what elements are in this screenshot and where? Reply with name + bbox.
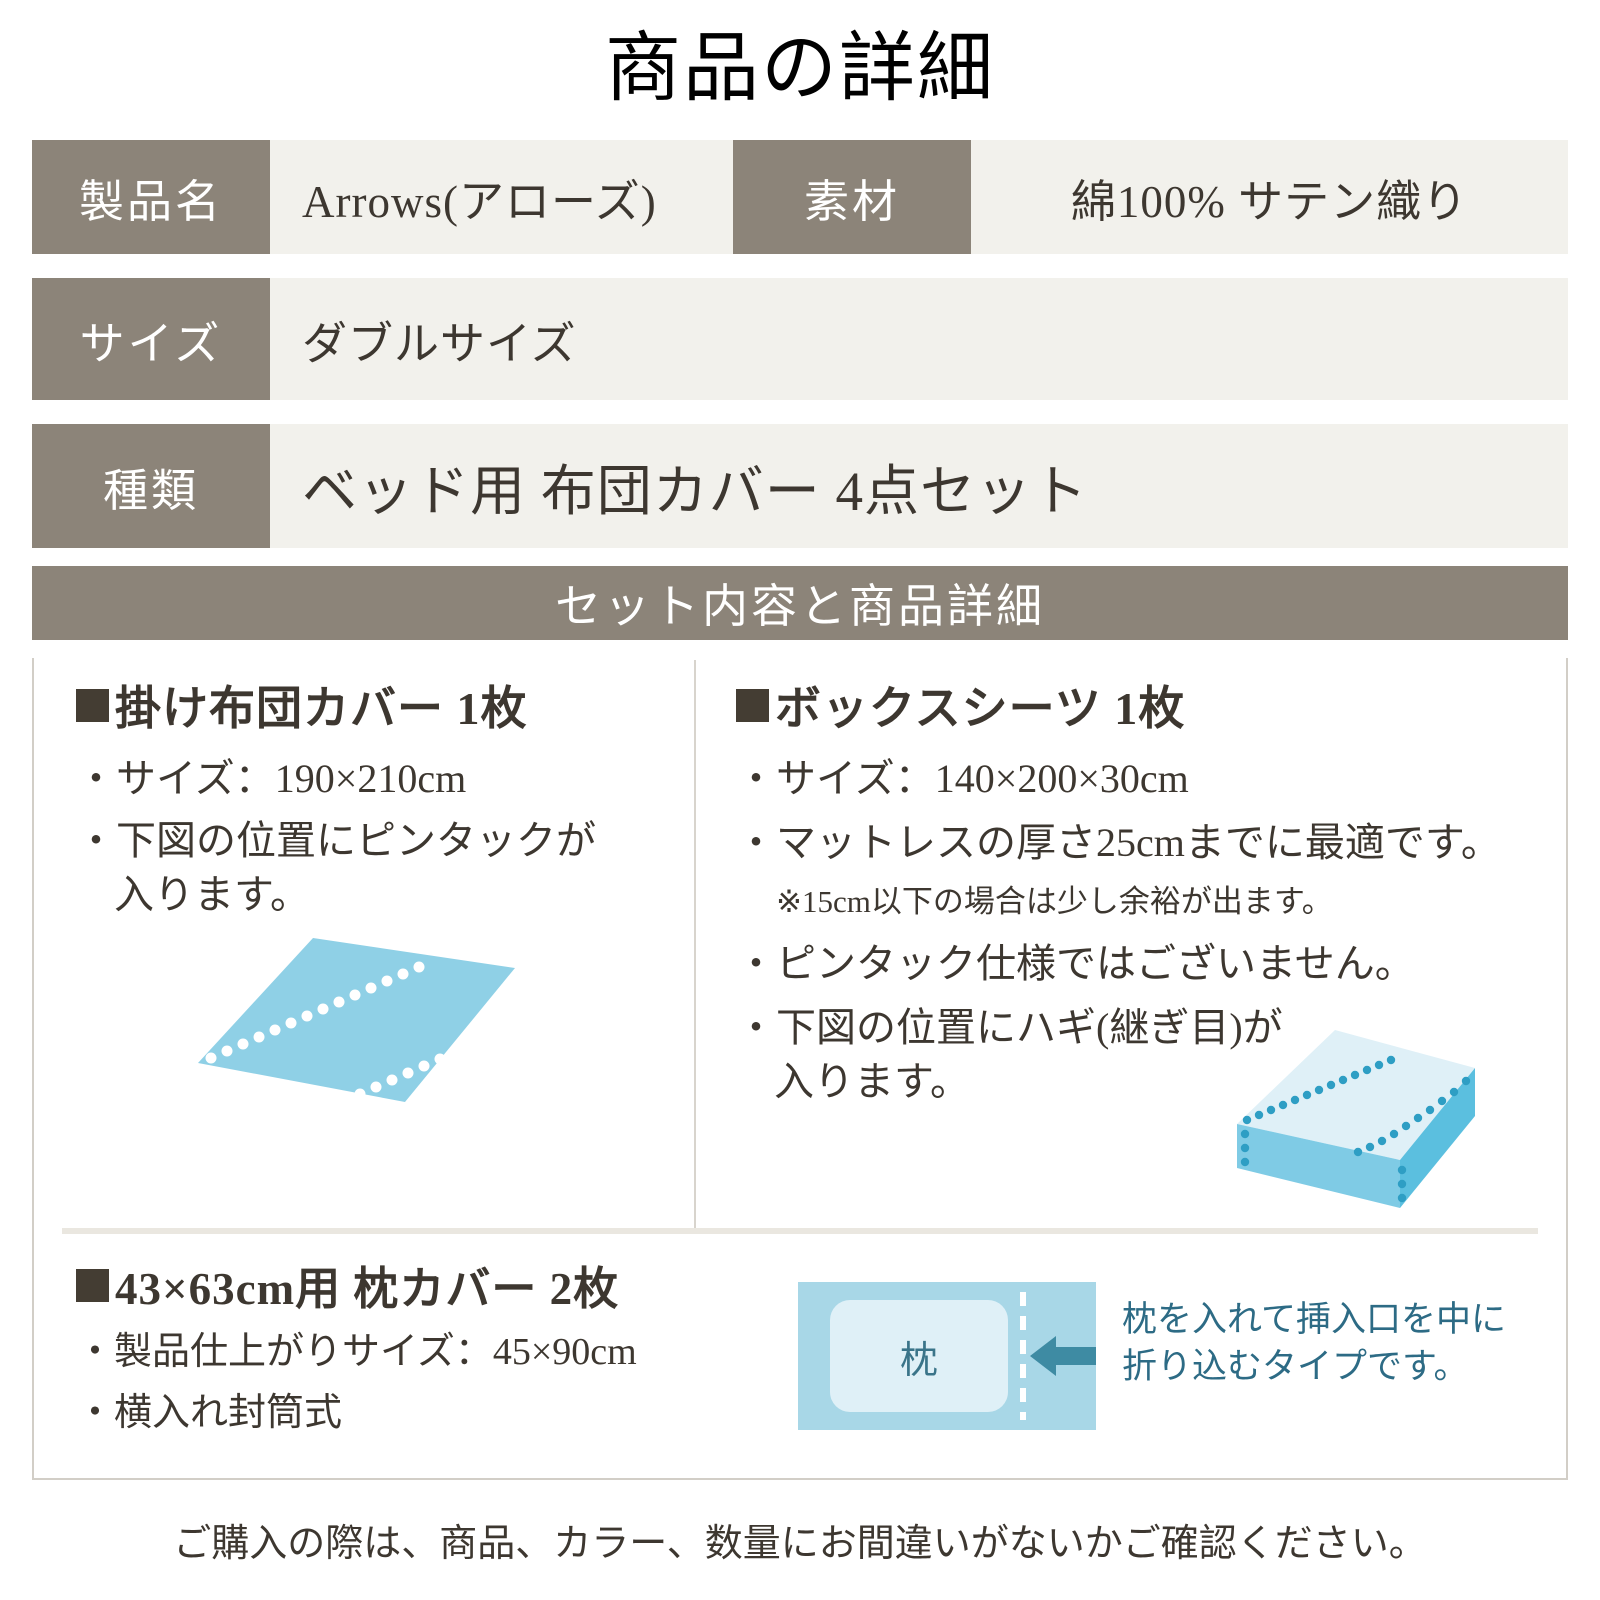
list-item: ・横入れ封筒式 — [76, 1388, 716, 1439]
left-arrow-icon — [1030, 1334, 1096, 1378]
pillow-case-diagram: 枕 — [798, 1282, 1096, 1430]
list-item-text: ・下図の位置にハギ(継ぎ目)が — [736, 1005, 1283, 1050]
item-heading-box-sheet-label: ボックスシーツ 1枚 — [775, 672, 1185, 738]
spec-label-type: 種類 — [32, 424, 270, 548]
pillow-annotation-line2: 折り込むタイプです。 — [1122, 1343, 1522, 1390]
spec-label-material: 素材 — [733, 140, 971, 254]
item-duvet-cover: 掛け布団カバー 1枚 ・サイズ：190×210cm ・下図の位置にピンタックが … — [76, 672, 676, 930]
item-duvet-bullets: ・サイズ：190×210cm ・下図の位置にピンタックが 入ります。 — [76, 752, 676, 922]
column-divider — [694, 660, 696, 1230]
spec-value-size: ダブルサイズ — [270, 278, 1568, 400]
item-heading-duvet-label: 掛け布団カバー 1枚 — [115, 672, 528, 738]
section-header-set-contents: セット内容と商品詳細 — [32, 566, 1568, 640]
list-item: ・サイズ：140×200×30cm — [736, 752, 1526, 806]
box-sheet-diagram — [1225, 1020, 1515, 1210]
table-row: 種類 ベッド用 布団カバー 4点セット — [32, 424, 1568, 548]
item-heading-pillow: 43×63cm用 枕カバー 2枚 — [76, 1252, 716, 1317]
fold-line-dashed — [1020, 1292, 1026, 1420]
square-bullet-icon — [736, 689, 769, 722]
table-row: 製品名 Arrows(アローズ) 素材 綿100% サテン織り — [32, 140, 1568, 254]
square-bullet-icon — [76, 1269, 109, 1302]
table-row: サイズ ダブルサイズ — [32, 278, 1568, 400]
item-heading-pillow-label: 43×63cm用 枕カバー 2枚 — [115, 1252, 619, 1317]
list-item-text: ・下図の位置にピンタックが — [76, 818, 596, 863]
list-item-note: ※15cm以下の場合は少し余裕が出ます。 — [736, 880, 1526, 923]
item-heading-box-sheet: ボックスシーツ 1枚 — [736, 672, 1526, 738]
square-bullet-icon — [76, 689, 109, 722]
horizontal-rule — [62, 1228, 1538, 1234]
list-item: ・製品仕上がりサイズ：45×90cm — [76, 1327, 716, 1378]
pillow-annotation-line1: 枕を入れて挿入口を中に — [1122, 1296, 1522, 1343]
list-item: ・サイズ：190×210cm — [76, 752, 676, 806]
list-item: ・ピンタック仕様ではございません。 — [736, 937, 1526, 991]
spec-label-size: サイズ — [32, 278, 270, 400]
list-item-text-cont: 入ります。 — [76, 868, 676, 922]
pillow-diagram-label: 枕 — [830, 1300, 1008, 1412]
spec-value-product-name: Arrows(アローズ) — [270, 140, 733, 254]
pillow-case-annotation: 枕を入れて挿入口を中に 折り込むタイプです。 — [1122, 1296, 1522, 1391]
spec-value-material: 綿100% サテン織り — [971, 140, 1568, 254]
spec-label-product-name: 製品名 — [32, 140, 270, 254]
duvet-cover-diagram — [170, 930, 550, 1110]
list-item: ・下図の位置にピンタックが 入ります。 — [76, 814, 676, 922]
spec-table: 製品名 Arrows(アローズ) 素材 綿100% サテン織り サイズ ダブルサ… — [32, 140, 1568, 572]
page-title: 商品の詳細 — [0, 14, 1600, 124]
footer-note: ご購入の際は、商品、カラー、数量にお間違いがないかご確認ください。 — [0, 1512, 1600, 1567]
spec-value-type: ベッド用 布団カバー 4点セット — [270, 424, 1568, 548]
list-item: ・マットレスの厚さ25cmまでに最適です。 — [736, 816, 1526, 870]
item-pillow-case: 43×63cm用 枕カバー 2枚 ・製品仕上がりサイズ：45×90cm ・横入れ… — [76, 1252, 716, 1440]
item-heading-duvet: 掛け布団カバー 1枚 — [76, 672, 676, 738]
